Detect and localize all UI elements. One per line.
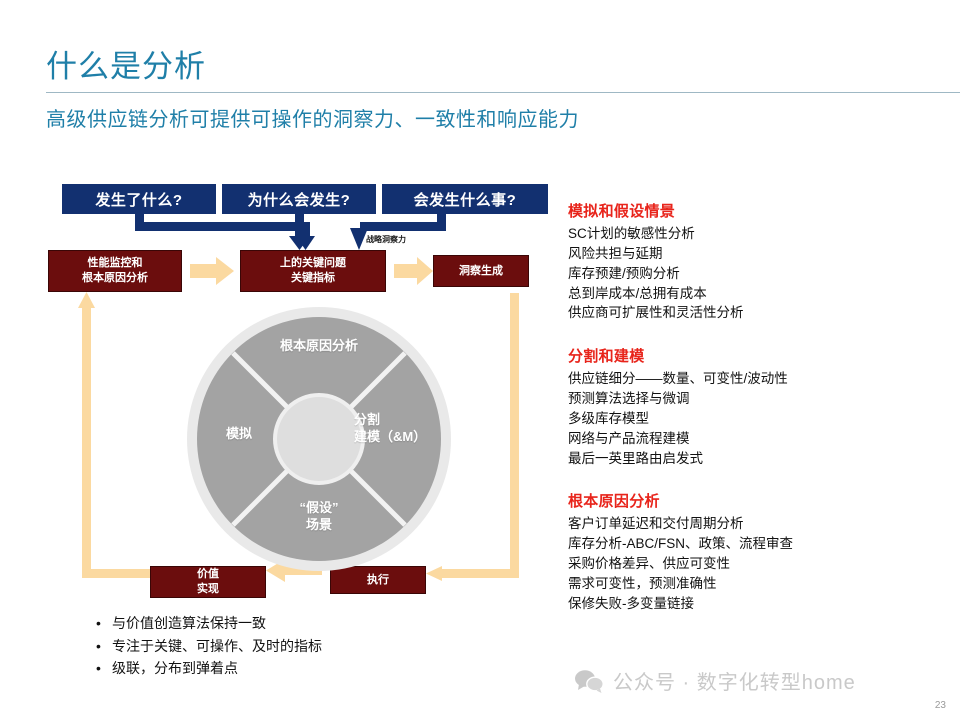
footer-text: 公众号 · 数字化转型home [613, 666, 856, 695]
process-box-line2: 根本原因分析 [82, 271, 148, 286]
question-box-3[interactable]: 会发生什么事? [382, 184, 548, 214]
process-box-line1: 执行 [367, 573, 389, 588]
detail-item: 最后一英里路由启发式 [568, 449, 956, 469]
detail-item: 保修失败-多变量链接 [568, 594, 956, 614]
bullet-dot-icon: • [96, 635, 112, 658]
detail-item: 总到岸成本/总拥有成本 [568, 284, 956, 304]
page-subtitle: 高级供应链分析可提供可操作的洞察力、一致性和响应能力 [46, 103, 579, 132]
detail-group-simulation: 模拟和假设情景 SC计划的敏感性分析 风险共担与延期 库存预建/预购分析 总到岸… [568, 200, 956, 323]
donut-hub [275, 395, 363, 483]
donut-label-bottom-line1: “假设” [186, 500, 452, 517]
title-divider [46, 92, 960, 93]
detail-item: 库存分析-ABC/FSN、政策、流程审查 [568, 534, 956, 554]
detail-item: 采购价格差异、供应可变性 [568, 554, 956, 574]
detail-item: 预测算法选择与微调 [568, 389, 956, 409]
list-item: • 级联，分布到弹着点 [96, 657, 322, 680]
detail-item: 网络与产品流程建模 [568, 429, 956, 449]
detail-item: 库存预建/预购分析 [568, 264, 956, 284]
donut-label-bottom-line2: 场景 [186, 517, 452, 534]
page-title: 什么是分析 [46, 50, 206, 84]
wechat-icon [574, 669, 604, 693]
bullet-dot-icon: • [96, 612, 112, 635]
process-box-line2: 关键指标 [291, 271, 335, 286]
footer-watermark: 公众号 · 数字化转型home [574, 666, 856, 695]
list-item: • 与价值创造算法保持一致 [96, 612, 322, 635]
bullet-list: • 与价值创造算法保持一致 • 专注于关键、可操作、及时的指标 • 级联，分布到… [96, 612, 322, 680]
detail-group-heading: 模拟和假设情景 [568, 200, 956, 221]
donut-label-simulation: 模拟 [194, 426, 284, 443]
detail-item: 需求可变性，预测准确性 [568, 574, 956, 594]
detail-group-heading: 分割和建模 [568, 345, 956, 366]
donut-label-segmentation-modeling: 分割 建模（&M） [354, 412, 474, 446]
detail-item: 客户订单延迟和交付周期分析 [568, 514, 956, 534]
process-box-line2: 实现 [197, 582, 219, 597]
bullet-text: 与价值创造算法保持一致 [112, 612, 266, 635]
detail-group-segmentation: 分割和建模 供应链细分——数量、可变性/波动性 预测算法选择与微调 多级库存模型… [568, 345, 956, 468]
bullet-text: 级联，分布到弹着点 [112, 657, 238, 680]
process-box-line1: 洞察生成 [459, 264, 503, 279]
detail-item: 风险共担与延期 [568, 244, 956, 264]
question-box-2[interactable]: 为什么会发生? [222, 184, 376, 214]
detail-column: 模拟和假设情景 SC计划的敏感性分析 风险共担与延期 库存预建/预购分析 总到岸… [568, 200, 956, 636]
bullet-text: 专注于关键、可操作、及时的指标 [112, 635, 322, 658]
donut-label-root-cause: 根本原因分析 [186, 338, 452, 355]
donut-label-whatif-scenarios: “假设” 场景 [186, 500, 452, 534]
process-box-performance-monitoring[interactable]: 性能监控和 根本原因分析 [48, 250, 182, 292]
detail-item: 多级库存模型 [568, 409, 956, 429]
detail-item: 供应商可扩展性和灵活性分析 [568, 303, 956, 323]
detail-group-heading: 根本原因分析 [568, 490, 956, 511]
strategy-insight-label: 战略洞察力 [366, 234, 406, 245]
donut-label-right-line2: 建模（&M） [354, 429, 474, 446]
process-box-line1: 性能监控和 [88, 256, 143, 271]
detail-item: 供应链细分——数量、可变性/波动性 [568, 369, 956, 389]
process-box-insight-generation[interactable]: 洞察生成 [433, 255, 529, 287]
donut-label-right-line1: 分割 [354, 412, 474, 429]
list-item: • 专注于关键、可操作、及时的指标 [96, 635, 322, 658]
process-box-line1: 上的关键问题 [280, 256, 346, 271]
analytics-donut-diagram: 根本原因分析 分割 建模（&M） “假设” 场景 模拟 [186, 306, 452, 572]
process-box-key-questions[interactable]: 上的关键问题 关键指标 [240, 250, 386, 292]
question-box-1[interactable]: 发生了什么? [62, 184, 216, 214]
detail-group-root-cause: 根本原因分析 客户订单延迟和交付周期分析 库存分析-ABC/FSN、政策、流程审… [568, 490, 956, 613]
page-number: 23 [935, 700, 946, 711]
bullet-dot-icon: • [96, 657, 112, 680]
detail-item: SC计划的敏感性分析 [568, 224, 956, 244]
